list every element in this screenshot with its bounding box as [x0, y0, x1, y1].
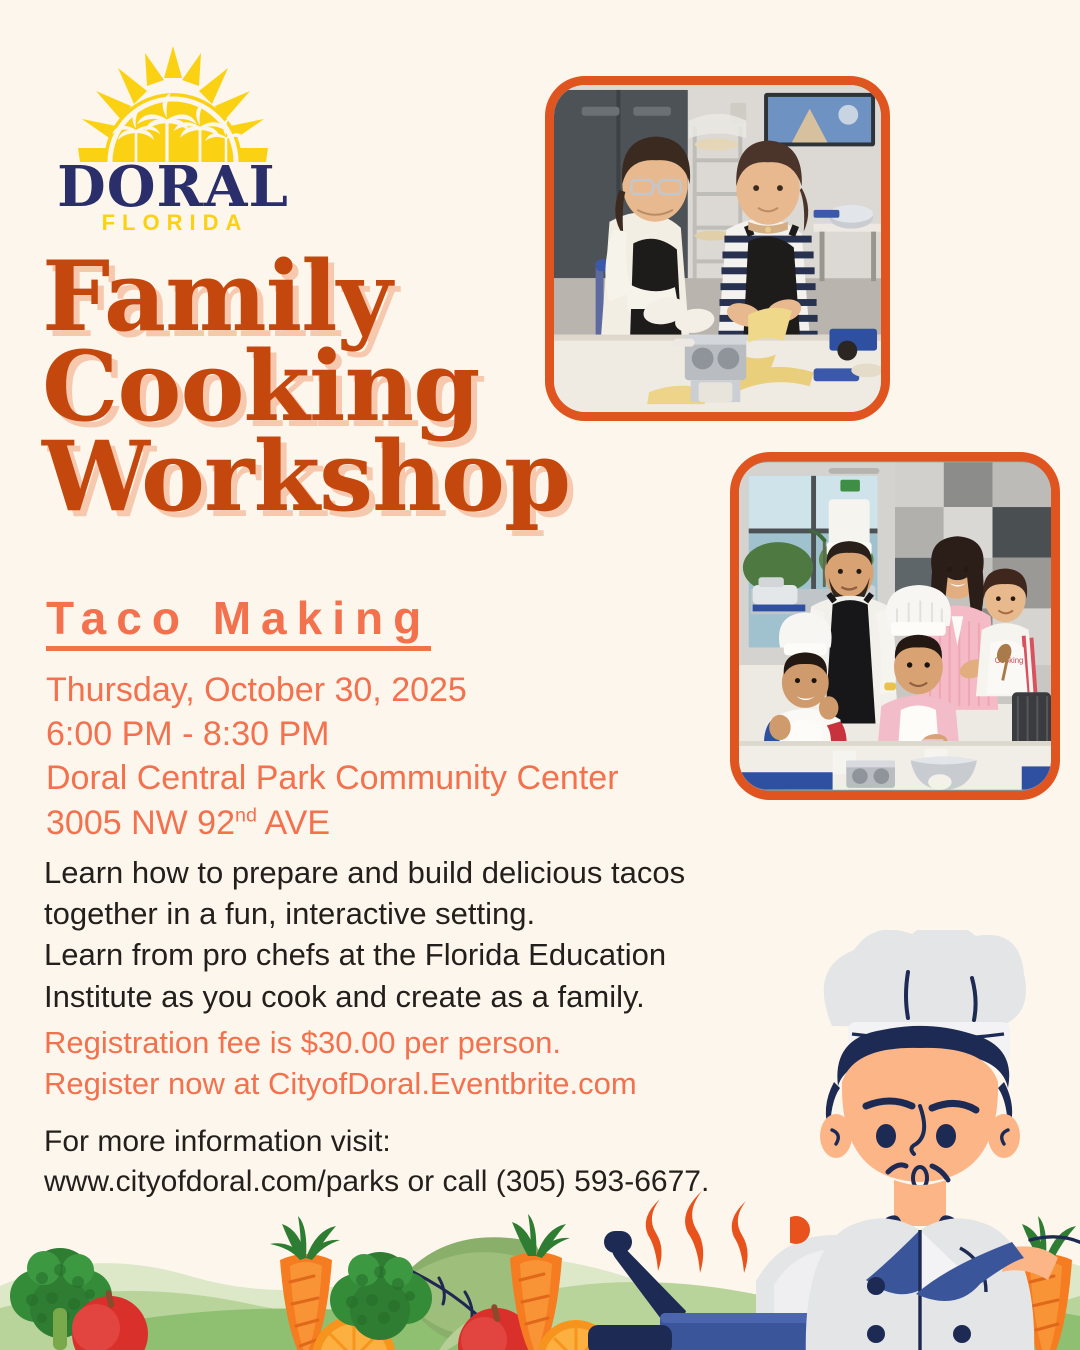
event-venue: Doral Central Park Community Center	[46, 756, 726, 800]
registration-fee: Registration fee is $30.00 per person.	[44, 1022, 824, 1063]
event-time: 6:00 PM - 8:30 PM	[46, 712, 726, 756]
registration-text: Registration fee is $30.00 per person. R…	[44, 1022, 824, 1104]
description-line-3: Learn from pro chefs at the Florida Educ…	[44, 934, 804, 975]
description-line-2: together in a fun, interactive setting.	[44, 893, 804, 934]
registration-link[interactable]: Register now at CityofDoral.Eventbrite.c…	[44, 1063, 824, 1104]
description-line-4: Institute as you cook and create as a fa…	[44, 976, 804, 1017]
description-line-1: Learn how to prepare and build delicious…	[44, 852, 804, 893]
event-address: 3005 NW 92nd AVE	[46, 801, 726, 845]
address-street-type: AVE	[257, 804, 330, 842]
flyer-page: DORAL FLORIDA Family Cooking Workshop Ta…	[0, 0, 1080, 1350]
subtitle-taco-making: Taco Making	[46, 594, 431, 651]
cartoon-chef-illustration	[790, 930, 1080, 1350]
photo-family-chefs: Cooking	[730, 452, 1060, 800]
photo-pasta-making	[545, 76, 890, 421]
title-line-3: Workshop	[42, 432, 682, 522]
contact-line-1: For more information visit:	[44, 1122, 824, 1162]
sun-icon	[78, 46, 268, 162]
event-date: Thursday, October 30, 2025	[46, 668, 726, 712]
doral-logo: DORAL FLORIDA	[48, 44, 298, 234]
logo-state-text: FLORIDA	[102, 210, 249, 234]
steam-icon	[646, 1191, 748, 1273]
address-ordinal-suffix: nd	[235, 804, 257, 826]
event-details: Thursday, October 30, 2025 6:00 PM - 8:3…	[46, 668, 726, 845]
child-toddler: Cooking	[976, 568, 1035, 696]
description-text: Learn how to prepare and build delicious…	[44, 852, 804, 1017]
address-number: 3005 NW 92	[46, 804, 235, 842]
